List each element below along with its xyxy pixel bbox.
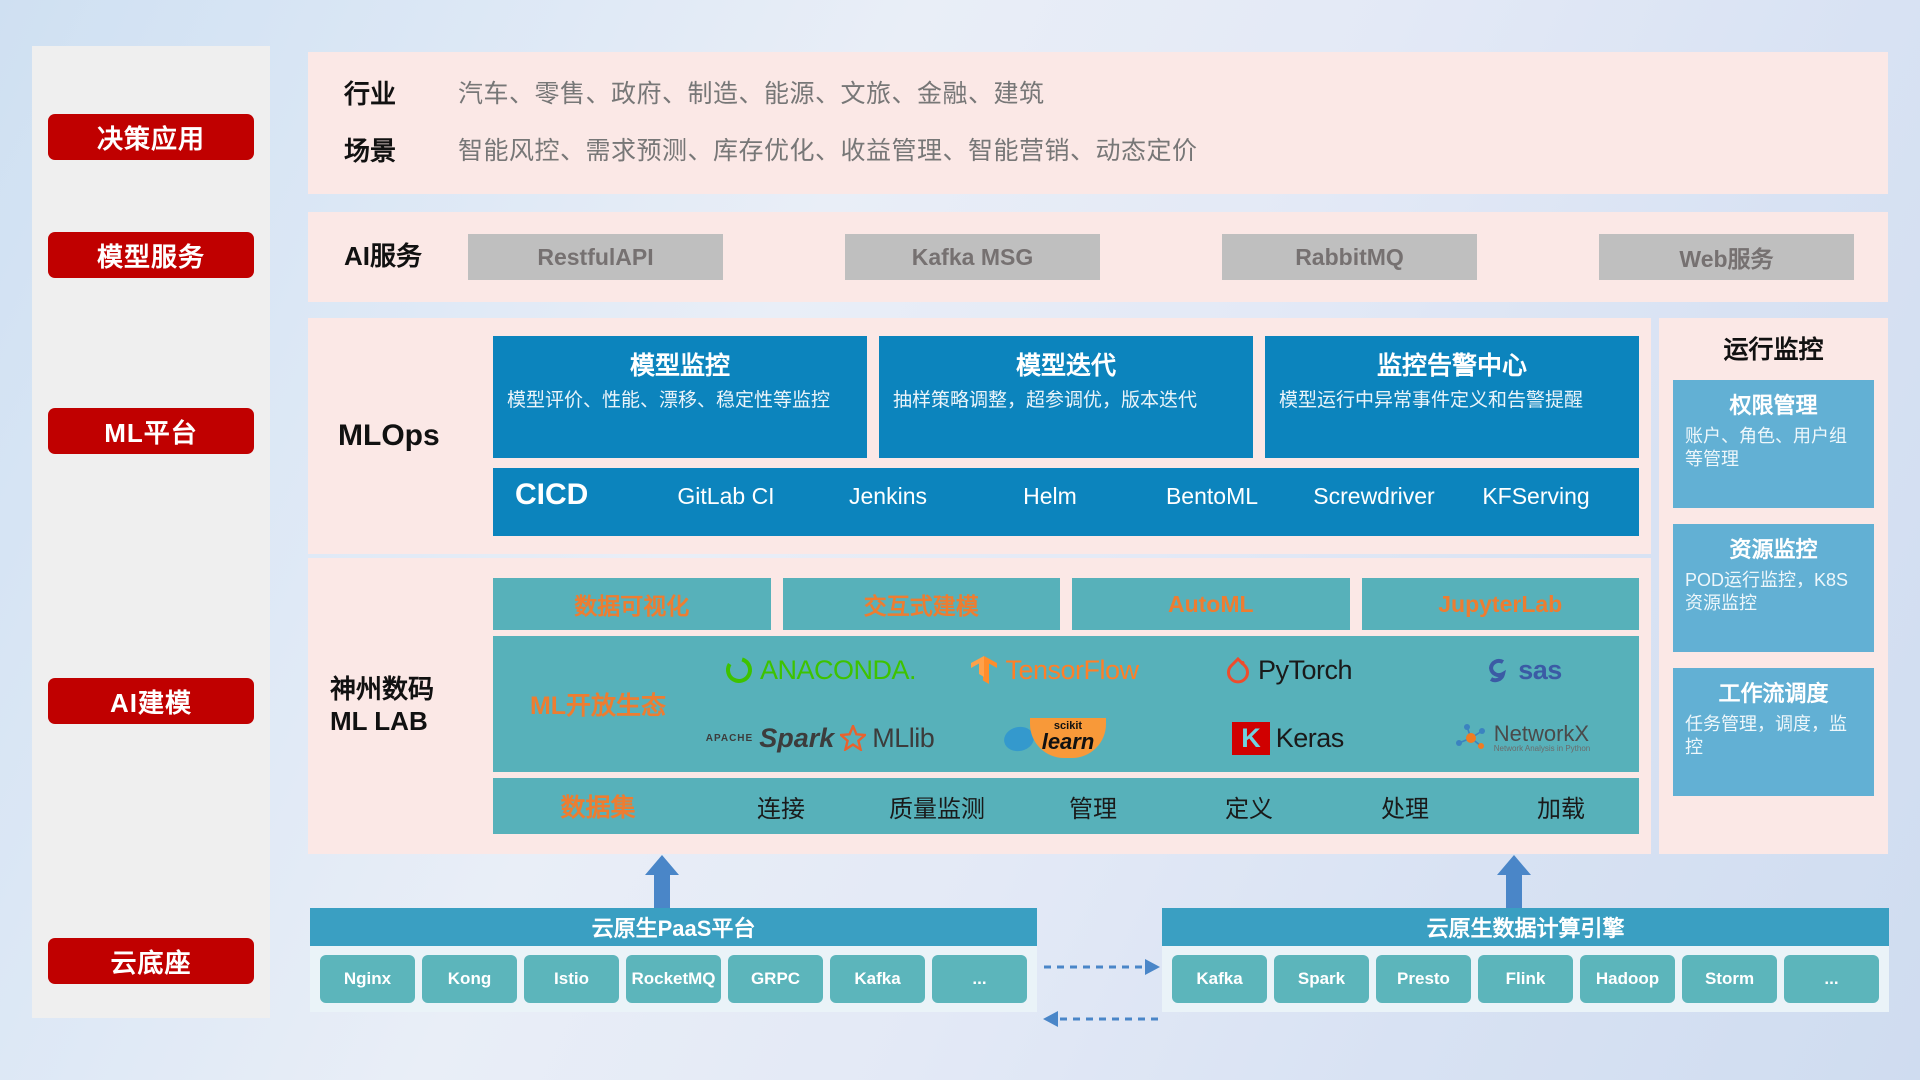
dataset-item-quality-monitor[interactable]: 质量监测 [859,789,1015,824]
data-engine-group: 云原生数据计算引擎 Kafka Spark Presto Flink Hadoo… [1162,908,1889,1012]
engine-chip-kafka[interactable]: Kafka [1172,955,1267,1003]
mlops-card-model-monitoring[interactable]: 模型监控 模型评价、性能、漂移、稳定性等监控 [493,336,867,458]
card-desc: 任务管理，调度，监控 [1685,713,1862,759]
paas-group: 云原生PaaS平台 Nginx Kong Istio RocketMQ GRPC… [310,908,1037,1012]
sas-logo[interactable]: sas [1482,655,1562,686]
mllib-wordmark: MLlib [872,723,934,754]
cicd-item-bentoml[interactable]: BentoML [1131,478,1293,509]
ml-lab-band: 神州数码 ML LAB 数据可视化 交互式建模 AutoML JupyterLa… [308,558,1651,854]
card-desc: 账户、角色、用户组等管理 [1685,425,1862,471]
data-engine-chip-row: Kafka Spark Presto Flink Hadoop Storm ..… [1162,946,1889,1012]
mlops-card-model-iteration[interactable]: 模型迭代 抽样策略调整，超参调优，版本迭代 [879,336,1253,458]
mlops-label: MLOps [308,418,493,455]
industry-value: 汽车、零售、政府、制造、能源、文旅、金融、建筑 [458,74,1045,110]
paas-chip-row: Nginx Kong Istio RocketMQ GRPC Kafka ... [310,946,1037,1012]
ml-lab-label-line2: ML LAB [330,706,493,738]
ml-ecosystem-band: ML开放生态 ANACONDA. TensorFlow [493,636,1639,772]
ml-lab-tabs: 数据可视化 交互式建模 AutoML JupyterLab [493,578,1639,630]
scikit-learn-badge: scikit learn [1030,718,1107,758]
card-desc: POD运行监控，K8S资源监控 [1685,569,1862,615]
tab-jupyterlab[interactable]: JupyterLab [1362,578,1640,630]
cicd-item-helm[interactable]: Helm [969,478,1131,509]
engine-chip-more[interactable]: ... [1784,955,1879,1003]
paas-chip-rocketmq[interactable]: RocketMQ [626,955,721,1003]
stage-label: 云底座 [110,943,191,980]
apache-text: APACHE [706,733,753,744]
monitoring-heading: 运行监控 [1673,330,1874,366]
tab-automl[interactable]: AutoML [1072,578,1350,630]
tensorflow-logo[interactable]: TensorFlow [969,654,1138,686]
dataset-item-process[interactable]: 处理 [1327,789,1483,824]
stage-chip-decision-app[interactable]: 决策应用 [48,114,254,160]
ai-chip-restful-api[interactable]: RestfulAPI [468,234,723,280]
ai-chip-kafka-msg[interactable]: Kafka MSG [845,234,1100,280]
cicd-item-screwdriver[interactable]: Screwdriver [1293,478,1455,509]
cicd-title: CICD [515,478,645,512]
card-title: 监控告警中心 [1279,346,1625,382]
card-desc: 模型评价、性能、漂移、稳定性等监控 [507,389,853,414]
ml-ecosystem-title: ML开放生态 [493,686,703,722]
engine-chip-hadoop[interactable]: Hadoop [1580,955,1675,1003]
cicd-bar: CICD GitLab CI Jenkins Helm BentoML Scre… [493,468,1639,536]
anaconda-logo[interactable]: ANACONDA. [724,655,916,686]
stage-chip-ml-platform[interactable]: ML平台 [48,408,254,454]
paas-chip-grpc[interactable]: GRPC [728,955,823,1003]
ml-lab-label: 神州数码 ML LAB [308,674,493,737]
industry-row: 行业 汽车、零售、政府、制造、能源、文旅、金融、建筑 [308,52,1888,118]
up-arrow-data-engine [1497,855,1531,911]
dataset-band: 数据集 连接 质量监测 管理 定义 处理 加载 [493,778,1639,834]
stage-chip-cloud-base[interactable]: 云底座 [48,938,254,984]
tab-data-visualization[interactable]: 数据可视化 [493,578,771,630]
dataset-title: 数据集 [493,788,703,824]
ml-lab-label-line1: 神州数码 [330,674,493,706]
paas-chip-more[interactable]: ... [932,955,1027,1003]
monitoring-card-permission[interactable]: 权限管理 账户、角色、用户组等管理 [1673,380,1874,508]
learn-text: learn [1042,732,1095,752]
card-title: 模型迭代 [893,346,1239,382]
pytorch-wordmark: PyTorch [1258,655,1352,686]
monitoring-card-resource[interactable]: 资源监控 POD运行监控，K8S资源监控 [1673,524,1874,652]
logo-grid: ANACONDA. TensorFlow [703,636,1639,772]
stage-label: 决策应用 [97,119,205,156]
sas-wordmark: sas [1518,655,1562,686]
paas-chip-nginx[interactable]: Nginx [320,955,415,1003]
architecture-diagram: 决策应用 模型服务 ML平台 AI建模 云底座 行业 汽车、零售、政府、制造、能… [0,0,1920,1080]
stage-label: 模型服务 [97,237,205,274]
spark-wordmark: Spark [759,723,834,754]
keras-mark: K [1232,722,1270,755]
dataset-item-connect[interactable]: 连接 [703,789,859,824]
engine-chip-flink[interactable]: Flink [1478,955,1573,1003]
paas-chip-istio[interactable]: Istio [524,955,619,1003]
card-title: 资源监控 [1685,532,1862,564]
ai-service-band: AI服务 RestfulAPI Kafka MSG RabbitMQ Web服务 [308,212,1888,302]
card-title: 工作流调度 [1685,676,1862,708]
dataset-item-define[interactable]: 定义 [1171,789,1327,824]
scenario-row: 场景 智能风控、需求预测、库存优化、收益管理、智能营销、动态定价 [308,118,1888,180]
networkx-logo[interactable]: NetworkX Network Analysis in Python [1454,723,1591,753]
paas-chip-kafka[interactable]: Kafka [830,955,925,1003]
tab-interactive-modeling[interactable]: 交互式建模 [783,578,1061,630]
mlops-band: MLOps 模型监控 模型评价、性能、漂移、稳定性等监控 模型迭代 抽样策略调整… [308,318,1651,554]
stage-label: AI建模 [110,683,192,720]
anaconda-wordmark: ANACONDA. [760,655,916,686]
keras-wordmark: Keras [1276,723,1344,754]
networkx-wordmark: NetworkX [1494,723,1591,745]
ai-chip-web-service[interactable]: Web服务 [1599,234,1854,280]
engine-chip-presto[interactable]: Presto [1376,955,1471,1003]
cicd-item-jenkins[interactable]: Jenkins [807,478,969,509]
cicd-item-kfserving[interactable]: KFServing [1455,478,1617,509]
ai-chip-rabbitmq[interactable]: RabbitMQ [1222,234,1477,280]
spark-mllib-logo[interactable]: APACHE Spark MLlib [706,723,935,754]
scenario-label: 场景 [308,131,458,168]
cloud-connector-arrows [1040,955,1164,1035]
paas-heading: 云原生PaaS平台 [310,908,1037,946]
networkx-tagline: Network Analysis in Python [1494,745,1591,753]
card-desc: 模型运行中异常事件定义和告警提醒 [1279,389,1625,414]
stage-chip-ai-modeling[interactable]: AI建模 [48,678,254,724]
industry-scenario-band: 行业 汽车、零售、政府、制造、能源、文旅、金融、建筑 场景 智能风控、需求预测、… [308,52,1888,194]
cicd-item-gitlab-ci[interactable]: GitLab CI [645,478,807,509]
card-title: 模型监控 [507,346,853,382]
paas-chip-kong[interactable]: Kong [422,955,517,1003]
ai-service-label: AI服务 [308,241,468,273]
dataset-item-load[interactable]: 加载 [1483,789,1639,824]
scenario-value: 智能风控、需求预测、库存优化、收益管理、智能营销、动态定价 [458,131,1198,167]
runtime-monitoring-panel: 运行监控 权限管理 账户、角色、用户组等管理 资源监控 POD运行监控，K8S资… [1659,318,1888,854]
industry-label: 行业 [308,74,458,111]
monitoring-card-workflow[interactable]: 工作流调度 任务管理，调度，监控 [1673,668,1874,796]
data-engine-heading: 云原生数据计算引擎 [1162,908,1889,946]
dataset-item-manage[interactable]: 管理 [1015,789,1171,824]
card-desc: 抽样策略调整，超参调优，版本迭代 [893,389,1239,414]
up-arrow-paas [645,855,679,911]
scikit-learn-logo[interactable]: scikit learn [1002,718,1107,758]
engine-chip-spark[interactable]: Spark [1274,955,1369,1003]
keras-logo[interactable]: K Keras [1232,722,1344,755]
engine-chip-storm[interactable]: Storm [1682,955,1777,1003]
stage-chip-model-service[interactable]: 模型服务 [48,232,254,278]
tensorflow-wordmark: TensorFlow [1005,655,1138,686]
stage-rail [32,46,270,1018]
stage-label: ML平台 [104,413,198,450]
mlops-card-alert-center[interactable]: 监控告警中心 模型运行中异常事件定义和告警提醒 [1265,336,1639,458]
pytorch-logo[interactable]: PyTorch [1224,655,1352,686]
card-title: 权限管理 [1685,388,1862,420]
